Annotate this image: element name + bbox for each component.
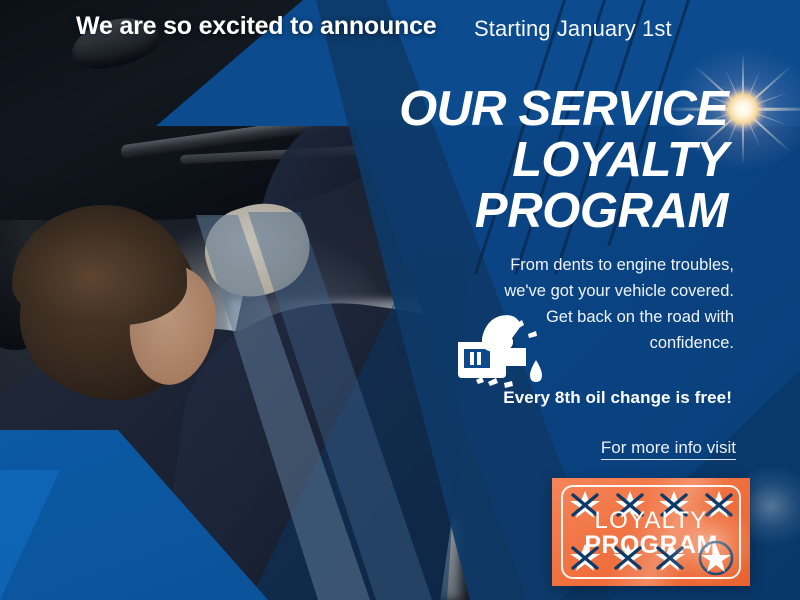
card-title: LOYALTY <box>552 508 750 533</box>
body-line-1: From dents to engine troubles, <box>434 252 734 278</box>
stamp-used <box>653 543 687 573</box>
stamp-used <box>611 543 645 573</box>
more-info-link[interactable]: For more info visit <box>416 438 736 458</box>
body-line-2: we've got your vehicle covered. <box>434 278 734 304</box>
announcement-kicker: We are so excited to announce <box>76 12 437 41</box>
stamp-used <box>568 543 602 573</box>
start-date-label: Starting January 1st <box>474 16 672 42</box>
promo-banner: We are so excited to announce Starting J… <box>0 0 800 600</box>
oil-can-pour-icon <box>452 308 548 390</box>
offer-text: Every 8th oil change is free! <box>412 388 732 408</box>
more-info-label: For more info visit <box>601 438 736 460</box>
headline-line-1: OUR SERVICE <box>308 84 728 135</box>
headline-line-2: LOYALTY <box>308 135 728 186</box>
stamp-row-bottom <box>568 540 736 576</box>
loyalty-card[interactable]: LOYALTY PROGRAM <box>552 478 750 586</box>
page-title: OUR SERVICE LOYALTY PROGRAM <box>308 84 728 237</box>
star-reward-icon <box>696 540 736 576</box>
headline-line-3: PROGRAM <box>308 186 728 237</box>
